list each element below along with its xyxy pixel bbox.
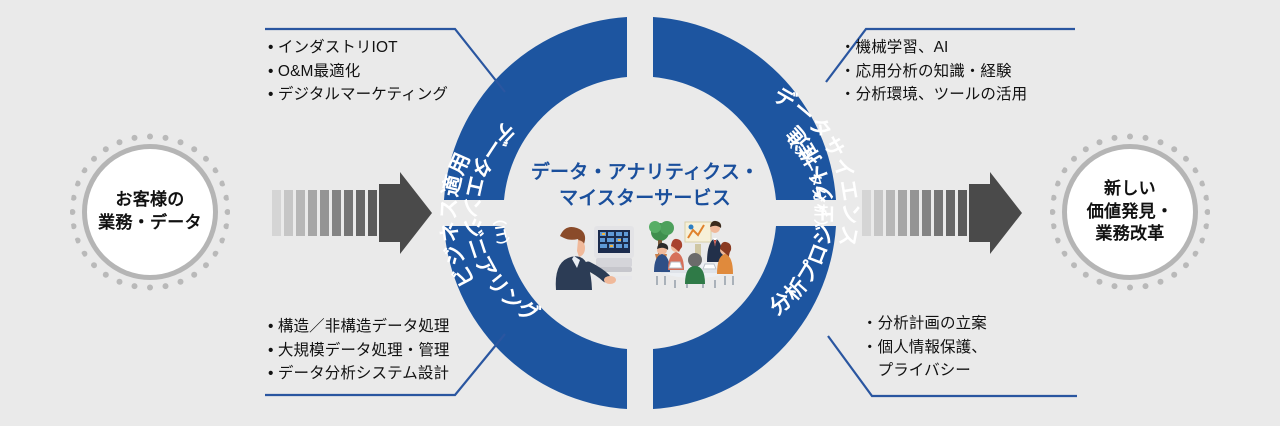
arrow-input-to-service xyxy=(272,172,432,254)
input-node: お客様の 業務・データ xyxy=(70,132,230,292)
diagram-canvas: お客様の 業務・データ 新しい 価値発見・ 業務改革 xyxy=(0,0,1280,426)
ring-label-data-engineering: データエンジニアリング xyxy=(459,117,544,328)
bullets-analysis-project: ・分析計画の立案 ・個人情報保護、 プライバシー xyxy=(862,312,1092,383)
bullets-data-science: ・機械学習、AI ・応用分析の知識・経験 ・分析環境、ツールの活用 xyxy=(840,36,1080,107)
output-node: 新しい 価値発見・ 業務改革 xyxy=(1050,132,1210,292)
ring-sublabel-data-science: （データ分析） xyxy=(781,129,829,235)
input-node-circle: お客様の 業務・データ xyxy=(82,144,218,280)
service-title: データ・アナリティクス・ マイスターサービス xyxy=(505,160,785,211)
team-meeting-illustration xyxy=(645,218,745,290)
ring-label-analysis-project: 分析プロジェクト推進 xyxy=(766,121,838,320)
person-at-computer-illustration xyxy=(538,218,636,290)
bullets-business-application: • インダストリIOT • O&M最適化 • デジタルマーケティング xyxy=(268,36,498,107)
bullets-data-engineering: • 構造／非構造データ処理 • 大規模データ処理・管理 • データ分析システム設… xyxy=(268,315,508,386)
ring-label-business-application: ビジネス適用 xyxy=(437,149,479,291)
output-node-label: 新しい 価値発見・ 業務改革 xyxy=(1087,178,1174,247)
arrow-service-to-output xyxy=(862,172,1022,254)
output-node-circle: 新しい 価値発見・ 業務改革 xyxy=(1062,144,1198,280)
input-node-label: お客様の 業務・データ xyxy=(98,189,202,235)
ring-sublabel-data-engineering: （IT） xyxy=(491,211,515,256)
